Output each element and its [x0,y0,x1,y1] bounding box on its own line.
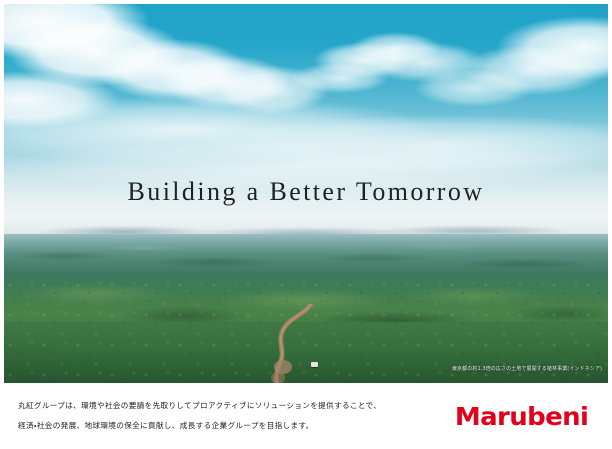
photo-caption: 東京都の約1.3倍の広さの土地で展開する植林事業(インドネシア) [452,365,602,373]
corporate-statement: 丸紅グループは、環境や社会の要請を先取りしてプロアクティブにソリューションを提供… [18,396,381,436]
advertisement-page: Building a Better Tomorrow 東京都の約1.3倍の広さの… [0,0,612,449]
statement-line-2: 経済・社会の発展、地球環境の保全に貢献し、成長する企業グループを目指します。 [18,416,381,436]
hero-headline: Building a Better Tomorrow [4,176,608,208]
far-forest-band [4,234,608,280]
vehicle-on-road [311,362,318,367]
footer-bar: 丸紅グループは、環境や社会の要請を先取りしてプロアクティブにソリューションを提供… [0,383,612,449]
dirt-road [259,304,329,383]
hero-photograph: Building a Better Tomorrow 東京都の約1.3倍の広さの… [4,4,608,383]
statement-line-1: 丸紅グループは、環境や社会の要請を先取りしてプロアクティブにソリューションを提供… [18,396,381,416]
brand-logo: Marubeni [460,404,598,429]
marubeni-wordmark: Marubeni [455,404,588,429]
